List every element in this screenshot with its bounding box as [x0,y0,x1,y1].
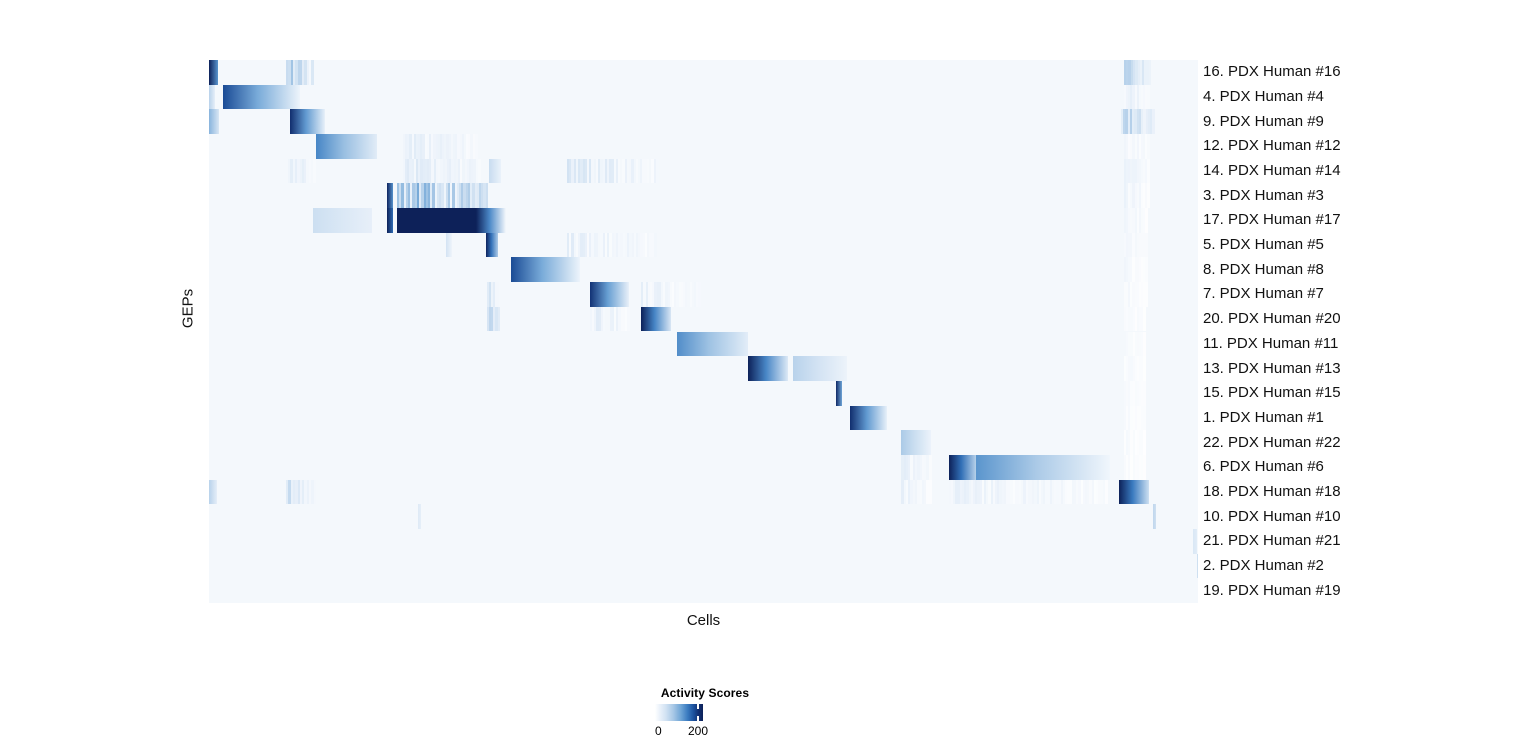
heatmap-block [976,455,1110,480]
heatmap-cell-stripe [316,159,319,184]
heatmap-block [590,282,630,307]
heatmap-row [209,307,1198,332]
heatmap-block [901,430,931,455]
row-label: 6. PDX Human #6 [1203,459,1324,474]
heatmap-cell-stripe [1143,381,1146,406]
colorbar-tick-bottom [697,716,699,721]
heatmap-cell-stripe [1105,480,1108,505]
colorbar-legend: Activity Scores 0 200 [600,686,810,742]
heatmap-block [223,85,300,110]
heatmap-block [446,233,452,258]
heatmap-row [209,356,1198,381]
heatmap-cell-stripe [497,282,500,307]
row-label: 13. PDX Human #13 [1203,361,1341,376]
row-label: 4. PDX Human #4 [1203,89,1324,104]
row-label: 14. PDX Human #14 [1203,163,1341,178]
heatmap-cell-stripe [314,480,317,505]
heatmap-cell-stripe [1147,159,1150,184]
heatmap-cell-stripe [1143,430,1146,455]
heatmap-cell-stripe [1147,134,1150,159]
heatmap-row [209,208,1198,233]
heatmap-block [209,85,215,110]
colorbar-gradient [655,704,703,721]
row-label: 17. PDX Human #17 [1203,212,1341,227]
heatmap-cell-stripe [478,159,481,184]
heatmap-row [209,406,1198,431]
heatmap-block [793,356,847,381]
heatmap-block [748,356,788,381]
colorbar-tick-top [697,704,699,709]
heatmap-row [209,159,1198,184]
heatmap-block [641,307,671,332]
row-label: 8. PDX Human #8 [1203,262,1324,277]
heatmap-cell-stripe [1143,356,1146,381]
row-label: 16. PDX Human #16 [1203,64,1341,79]
row-label: 1. PDX Human #1 [1203,410,1324,425]
x-axis-title: Cells [209,612,1198,629]
heatmap-cell-stripe [1151,60,1154,85]
heatmap-cell-stripe [1143,307,1146,332]
heatmap-cell-stripe [698,282,701,307]
heatmap-block [511,257,580,282]
heatmap-cell-stripe [1143,406,1146,431]
heatmap-row [209,85,1198,110]
heatmap-cell-stripe [1143,332,1146,357]
heatmap-row [209,332,1198,357]
heatmap-row [209,480,1198,505]
row-label: 20. PDX Human #20 [1203,311,1341,326]
heatmap-row [209,233,1198,258]
heatmap-cell-stripe [1145,257,1148,282]
row-label: 2. PDX Human #2 [1203,558,1324,573]
heatmap-row [209,109,1198,134]
y-axis-title: GEPs [180,289,197,329]
heatmap-row [209,60,1198,85]
heatmap-row [209,529,1198,554]
heatmap-block [387,208,393,233]
heatmap-block [387,183,393,208]
row-label: 10. PDX Human #10 [1203,509,1341,524]
heatmap-block [677,332,748,357]
heatmap-block [489,159,501,184]
heatmap-cell-stripe [314,60,317,85]
heatmap-row [209,504,1198,529]
colorbar-gradient-wrap [655,704,703,721]
row-label: 3. PDX Human #3 [1203,188,1324,203]
colorbar-title: Activity Scores [600,686,810,700]
heatmap-block [418,504,421,529]
colorbar-tick-label-high: 200 [688,724,708,738]
heatmap-block [476,208,506,233]
heatmap-cell-stripe [1143,455,1146,480]
heatmap-row [209,554,1198,579]
heatmap-block [1119,480,1149,505]
heatmap-figure: GEPs Cells 16. PDX Human #164. PDX Human… [0,0,1540,743]
heatmap-block [313,208,372,233]
heatmap-block [1197,554,1198,579]
heatmap-cell-stripe [475,134,478,159]
heatmap-block [209,109,219,134]
heatmap-block [836,381,842,406]
row-label: 15. PDX Human #15 [1203,385,1341,400]
row-label-list: 16. PDX Human #164. PDX Human #49. PDX H… [1203,60,1523,603]
heatmap-cell-stripe [1145,208,1148,233]
heatmap-block [209,60,218,85]
heatmap-cell-stripe [1145,233,1148,258]
heatmap-block [486,233,498,258]
heatmap-block [397,208,476,233]
heatmap-cell-stripe [929,480,932,505]
row-label: 22. PDX Human #22 [1203,435,1341,450]
heatmap-cell-stripe [654,233,657,258]
heatmap-block [949,455,977,480]
heatmap-plot-area [209,60,1198,603]
heatmap-cell-stripe [1145,282,1148,307]
heatmap-block [316,134,377,159]
colorbar-tick-label-low: 0 [655,724,662,738]
heatmap-row [209,381,1198,406]
heatmap-row [209,183,1198,208]
row-label: 7. PDX Human #7 [1203,286,1324,301]
heatmap-block [850,406,888,431]
row-label: 19. PDX Human #19 [1203,583,1341,598]
heatmap-cell-stripe [1147,85,1150,110]
heatmap-block [1193,529,1197,554]
row-label: 5. PDX Human #5 [1203,237,1324,252]
heatmap-block [209,480,217,505]
heatmap-cell-stripe [1152,109,1155,134]
heatmap-row [209,134,1198,159]
heatmap-cell-stripe [486,183,489,208]
heatmap-cell-stripe [498,307,501,332]
heatmap-cell-stripe [627,307,630,332]
heatmap-cell-stripe [929,455,932,480]
row-label: 21. PDX Human #21 [1203,533,1341,548]
heatmap-cell-stripe [1147,183,1150,208]
heatmap-row [209,455,1198,480]
row-label: 12. PDX Human #12 [1203,138,1341,153]
heatmap-row [209,578,1198,603]
heatmap-row [209,257,1198,282]
heatmap-row [209,430,1198,455]
row-label: 11. PDX Human #11 [1203,336,1338,351]
heatmap-block [1153,504,1156,529]
heatmap-row [209,282,1198,307]
heatmap-cell-stripe [656,159,659,184]
row-label: 9. PDX Human #9 [1203,114,1324,129]
row-label: 18. PDX Human #18 [1203,484,1341,499]
heatmap-block [290,109,325,134]
